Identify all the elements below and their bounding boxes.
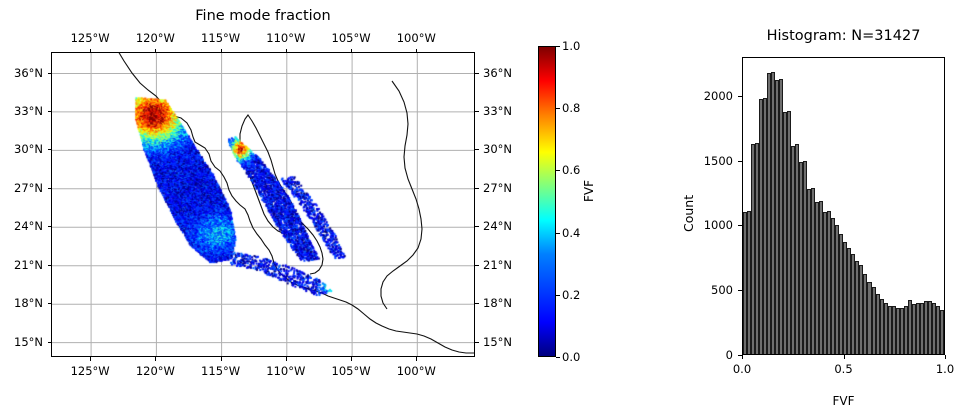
histogram-xlabel: FVF — [742, 394, 945, 408]
fvf-scatter-data — [52, 53, 475, 357]
map-ytick-mark — [48, 265, 52, 266]
map-xtick-label-bottom: 125°W — [71, 364, 110, 378]
colorbar-tick-mark — [556, 108, 560, 109]
map-ytick-mark — [475, 226, 479, 227]
map-xtick-label-top: 105°W — [332, 31, 371, 45]
map-ytick-label-right: 33°N — [483, 104, 512, 118]
map-ytick-mark — [48, 188, 52, 189]
histogram-ytick-label: 1000 — [704, 218, 733, 232]
colorbar-axis-label: FVF — [582, 180, 596, 202]
map-xtick-mark — [221, 49, 222, 53]
map-ytick-label-right: 18°N — [483, 296, 512, 310]
map-xtick-label-bottom: 110°W — [266, 364, 305, 378]
map-ytick-mark — [475, 303, 479, 304]
map-ytick-label-right: 27°N — [483, 181, 512, 195]
map-xtick-label-top: 115°W — [201, 31, 240, 45]
map-xtick-label-bottom: 120°W — [136, 364, 175, 378]
map-xtick-mark — [221, 357, 222, 361]
map-ytick-mark — [475, 265, 479, 266]
map-ytick-label-left: 15°N — [14, 335, 43, 349]
map-xtick-label-bottom: 100°W — [397, 364, 436, 378]
colorbar-tick-mark — [556, 295, 560, 296]
colorbar-tick-mark — [556, 170, 560, 171]
histogram-xtick-mark — [945, 355, 946, 359]
colorbar-tick-label: 0.6 — [562, 163, 580, 177]
map-ytick-mark — [48, 342, 52, 343]
map-axes[interactable] — [51, 52, 475, 357]
map-ytick-label-right: 15°N — [483, 335, 512, 349]
histogram-ytick-mark — [738, 225, 742, 226]
histogram-xtick-mark — [844, 355, 845, 359]
map-ytick-mark — [475, 111, 479, 112]
map-ytick-label-left: 18°N — [14, 296, 43, 310]
map-xtick-mark — [286, 357, 287, 361]
map-xtick-mark — [416, 49, 417, 53]
map-ytick-label-right: 30°N — [483, 142, 512, 156]
histogram-ytick-label: 1500 — [704, 154, 733, 168]
colorbar-tick-label: 0.2 — [562, 288, 580, 302]
histogram-ytick-label: 0 — [726, 348, 733, 362]
histogram-panel-title: Histogram: N=31427 — [742, 28, 945, 44]
map-xtick-label-top: 110°W — [266, 31, 305, 45]
map-xtick-label-top: 125°W — [71, 31, 110, 45]
map-xtick-mark — [351, 357, 352, 361]
histogram-ytick-mark — [738, 161, 742, 162]
map-xtick-mark — [90, 357, 91, 361]
map-xtick-label-bottom: 105°W — [332, 364, 371, 378]
map-xtick-label-top: 120°W — [136, 31, 175, 45]
colorbar-tick-label: 0.8 — [562, 101, 580, 115]
histogram-ytick-label: 500 — [711, 283, 733, 297]
histogram-axes[interactable] — [742, 57, 945, 355]
map-xtick-mark — [416, 357, 417, 361]
colorbar[interactable] — [538, 46, 556, 357]
histogram-bars — [743, 58, 944, 354]
colorbar-tick-label: 0.0 — [562, 350, 580, 364]
map-xtick-label-top: 100°W — [397, 31, 436, 45]
colorbar-tick-label: 0.4 — [562, 226, 580, 240]
colorbar-tick-mark — [556, 233, 560, 234]
map-ytick-mark — [475, 188, 479, 189]
map-ytick-mark — [475, 73, 479, 74]
colorbar-tick-mark — [556, 46, 560, 47]
colorbar-tick-mark — [556, 357, 560, 358]
map-ytick-label-right: 24°N — [483, 219, 512, 233]
histogram-ylabel: Count — [681, 195, 696, 232]
map-xtick-mark — [351, 49, 352, 53]
map-ytick-mark — [48, 226, 52, 227]
histogram-xtick-mark — [742, 355, 743, 359]
map-ytick-mark — [48, 111, 52, 112]
map-ytick-label-left: 36°N — [14, 66, 43, 80]
histogram-xtick-label: 0.5 — [834, 362, 852, 376]
figure-canvas: Fine mode fraction 125°W 120°W 115°W 110… — [0, 0, 957, 414]
map-ytick-label-right: 36°N — [483, 66, 512, 80]
map-xtick-mark — [286, 49, 287, 53]
map-ytick-label-left: 24°N — [14, 219, 43, 233]
map-ytick-label-right: 21°N — [483, 258, 512, 272]
histogram-xtick-label: 0.0 — [733, 362, 751, 376]
map-ytick-label-left: 33°N — [14, 104, 43, 118]
map-panel-title: Fine mode fraction — [51, 8, 475, 24]
histogram-ytick-mark — [738, 96, 742, 97]
map-ytick-mark — [48, 149, 52, 150]
histogram-ytick-label: 2000 — [704, 89, 733, 103]
colorbar-tick-label: 1.0 — [562, 39, 580, 53]
map-xtick-mark — [155, 357, 156, 361]
map-xtick-mark — [155, 49, 156, 53]
map-ytick-mark — [48, 303, 52, 304]
map-ytick-label-left: 27°N — [14, 181, 43, 195]
map-ytick-label-left: 30°N — [14, 142, 43, 156]
colorbar-gradient — [538, 46, 556, 357]
map-ytick-label-left: 21°N — [14, 258, 43, 272]
histogram-ytick-mark — [738, 290, 742, 291]
map-ytick-mark — [475, 342, 479, 343]
histogram-bar — [940, 310, 944, 354]
map-xtick-mark — [90, 49, 91, 53]
map-ytick-mark — [48, 73, 52, 74]
map-xtick-label-bottom: 115°W — [201, 364, 240, 378]
map-ytick-mark — [475, 149, 479, 150]
histogram-xtick-label: 1.0 — [936, 362, 954, 376]
